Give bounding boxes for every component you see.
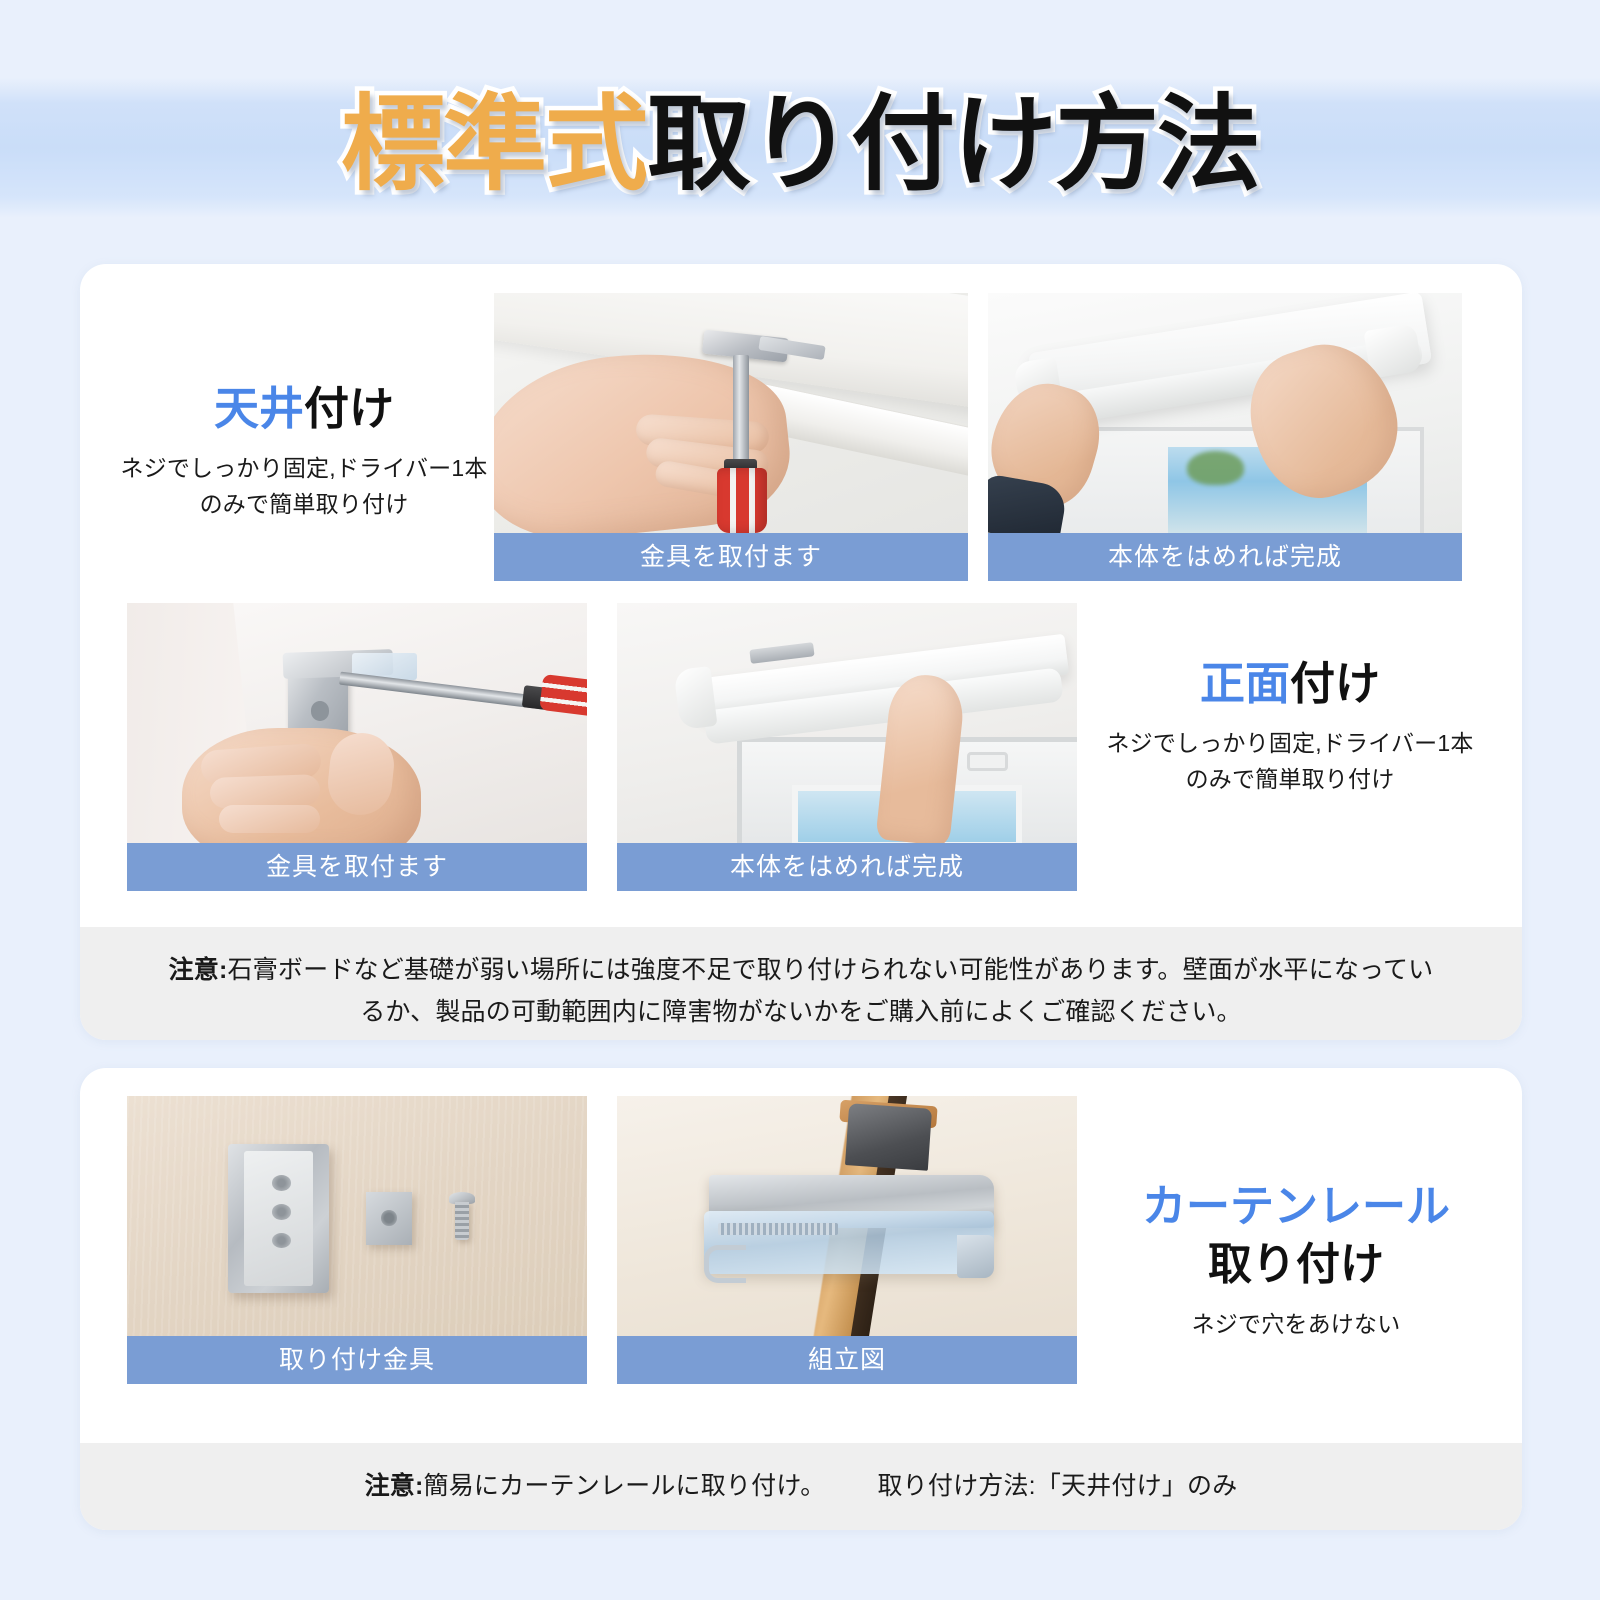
front-mount-heading-accent: 正面 xyxy=(1200,658,1290,709)
photo-ceiling-bracket-caption: 金具を取付ます xyxy=(494,533,968,581)
standard-mount-note-label: 注意: xyxy=(169,956,228,984)
ceiling-mount-sub-line1: ネジでしっかり固定,ドライバー1本 xyxy=(104,450,504,486)
ceiling-mount-heading-accent: 天井 xyxy=(214,383,304,434)
photo-front-bracket-caption: 金具を取付ます xyxy=(127,843,587,891)
photo-ceiling-body-fit-caption: 本体をはめれば完成 xyxy=(988,533,1462,581)
photo-ceiling-body-fit-image xyxy=(988,293,1462,533)
photo-ceiling-bracket: 金具を取付ます xyxy=(494,293,968,581)
photo-assembly-diagram: 組立図 xyxy=(617,1096,1077,1384)
photo-front-bracket: 金具を取付ます xyxy=(127,603,587,891)
standard-mount-note-line2: るか、製品の可動範囲内に障害物がないかをご購入前によくご確認ください。 xyxy=(80,991,1522,1033)
curtain-rail-note: 注意:簡易にカーテンレールに取り付け。取り付け方法:「天井付け」のみ xyxy=(80,1443,1522,1530)
page-title-main: 取り付け方法 xyxy=(647,87,1259,203)
ceiling-mount-sub-line2: のみで簡単取り付け xyxy=(104,486,504,522)
ceiling-mount-heading: 天井付け xyxy=(104,380,504,438)
standard-mount-note-line1: 注意:石膏ボードなど基礎が弱い場所には強度不足で取り付けられない可能性があります… xyxy=(80,949,1522,991)
curtain-rail-heading-main: 取り付け xyxy=(1096,1236,1496,1294)
photo-mounting-hardware-caption: 取り付け金具 xyxy=(127,1336,587,1384)
page-title: 標準式取り付け方法 xyxy=(0,80,1600,210)
photo-assembly-diagram-caption: 組立図 xyxy=(617,1336,1077,1384)
photo-ceiling-bracket-image xyxy=(494,293,968,533)
photo-mounting-hardware-image xyxy=(127,1096,587,1336)
curtain-rail-sub-line1: ネジで穴をあけない xyxy=(1096,1306,1496,1342)
front-mount-heading: 正面付け xyxy=(1090,655,1490,713)
curtain-rail-note-line: 注意:簡易にカーテンレールに取り付け。取り付け方法:「天井付け」のみ xyxy=(80,1465,1522,1507)
photo-ceiling-body-fit: 本体をはめれば完成 xyxy=(988,293,1462,581)
ceiling-mount-label-block: 天井付け ネジでしっかり固定,ドライバー1本 のみで簡単取り付け xyxy=(104,380,504,522)
front-mount-sub-line1: ネジでしっかり固定,ドライバー1本 xyxy=(1090,725,1490,761)
photo-front-bracket-image xyxy=(127,603,587,843)
photo-mounting-hardware: 取り付け金具 xyxy=(127,1096,587,1384)
curtain-rail-note-text2: 取り付け方法:「天井付け」のみ xyxy=(877,1472,1237,1500)
photo-assembly-diagram-image xyxy=(617,1096,1077,1336)
curtain-rail-label-block: カーテンレール 取り付け ネジで穴をあけない xyxy=(1096,1178,1496,1342)
standard-mount-note-text1: 石膏ボードなど基礎が弱い場所には強度不足で取り付けられない可能性があります。壁面… xyxy=(228,956,1434,984)
photo-front-body-fit-caption: 本体をはめれば完成 xyxy=(617,843,1077,891)
front-mount-sub-line2: のみで簡単取り付け xyxy=(1090,761,1490,797)
front-mount-label-block: 正面付け ネジでしっかり固定,ドライバー1本 のみで簡単取り付け xyxy=(1090,655,1490,797)
page-title-accent: 標準式 xyxy=(341,87,647,203)
front-mount-heading-main: 付け xyxy=(1290,658,1380,709)
ceiling-mount-heading-main: 付け xyxy=(304,383,394,434)
curtain-rail-heading-accent: カーテンレール xyxy=(1096,1178,1496,1236)
photo-front-body-fit-image xyxy=(617,603,1077,843)
curtain-rail-note-text1: 簡易にカーテンレールに取り付け。 xyxy=(424,1472,826,1500)
photo-front-body-fit: 本体をはめれば完成 xyxy=(617,603,1077,891)
curtain-rail-note-label: 注意: xyxy=(365,1472,424,1500)
standard-mount-note: 注意:石膏ボードなど基礎が弱い場所には強度不足で取り付けられない可能性があります… xyxy=(80,927,1522,1040)
